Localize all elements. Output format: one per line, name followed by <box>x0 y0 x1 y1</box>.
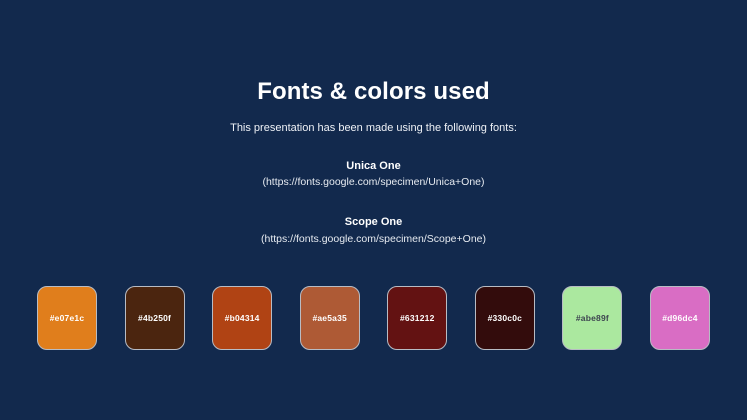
color-swatch: #b04314 <box>212 286 272 350</box>
color-swatch-label: #abe89f <box>576 313 609 323</box>
color-swatch-label: #b04314 <box>225 313 260 323</box>
color-swatch: #d96dc4 <box>650 286 710 350</box>
color-swatch: #4b250f <box>125 286 185 350</box>
color-swatch-label: #330c0c <box>488 313 523 323</box>
page-title: Fonts & colors used <box>257 78 490 107</box>
color-swatch-row: #e07e1c #4b250f #b04314 #ae5a35 #631212 … <box>37 286 710 350</box>
color-swatch-label: #d96dc4 <box>662 313 697 323</box>
color-swatch: #e07e1c <box>37 286 97 350</box>
color-swatch-label: #ae5a35 <box>312 313 347 323</box>
color-swatch: #ae5a35 <box>300 286 360 350</box>
color-swatch: #330c0c <box>475 286 535 350</box>
slide-fonts-and-colors: Fonts & colors used This presentation ha… <box>0 0 747 420</box>
font-name: Unica One <box>0 158 747 175</box>
font-url[interactable]: (https://fonts.google.com/specimen/Unica… <box>0 174 747 191</box>
font-entry-unica-one: Unica One (https://fonts.google.com/spec… <box>0 158 747 191</box>
slide-subtitle: This presentation has been made using th… <box>230 122 517 134</box>
color-swatch: #abe89f <box>562 286 622 350</box>
color-swatch: #631212 <box>387 286 447 350</box>
font-entry-scope-one: Scope One (https://fonts.google.com/spec… <box>0 214 747 247</box>
font-name: Scope One <box>0 214 747 231</box>
color-swatch-label: #631212 <box>400 313 435 323</box>
font-url[interactable]: (https://fonts.google.com/specimen/Scope… <box>0 231 747 248</box>
color-swatch-label: #e07e1c <box>50 313 85 323</box>
color-swatch-label: #4b250f <box>138 313 171 323</box>
